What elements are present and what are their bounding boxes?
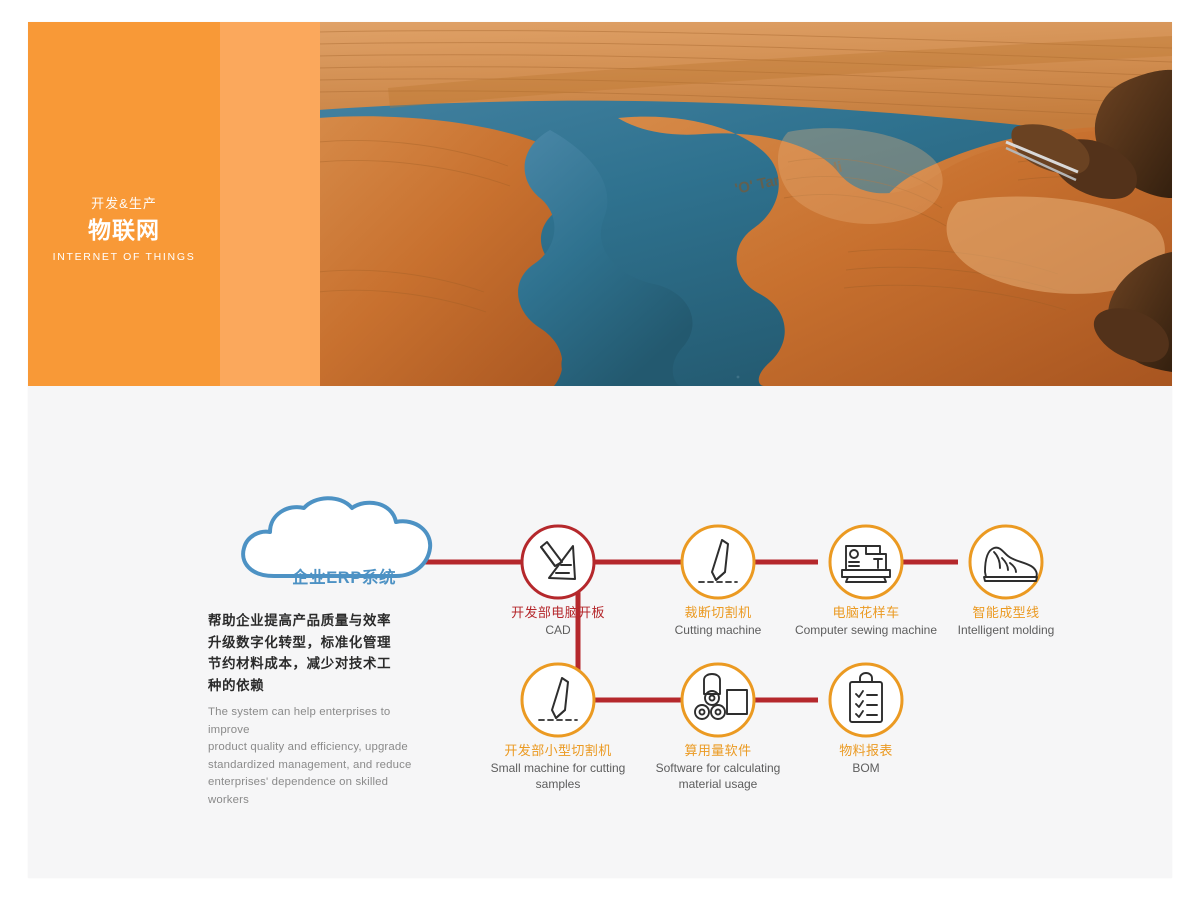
- description-chinese-line: 帮助企业提高产品质量与效率: [208, 610, 426, 632]
- hero-english-title: INTERNET OF THINGS: [28, 248, 220, 266]
- node-label-intelligent-molding-cn: 智能成型线: [926, 604, 1086, 622]
- erp-cloud-label: 企业ERP系统: [292, 564, 396, 588]
- description-chinese-line: 升级数字化转型，标准化管理: [208, 632, 426, 654]
- node-label-material-usage-software-cn: 算用量软件: [638, 742, 798, 760]
- node-label-bom-report-cn: 物料报表: [786, 742, 946, 760]
- hero-photo: 'O' Tan KI Holdi: [318, 22, 1172, 386]
- hero-accent-strip: [220, 22, 320, 386]
- description-english-line: The system can help enterprises to impro…: [208, 704, 426, 739]
- node-label-small-cutting-machine-en: Small machine for cutting samples: [478, 761, 638, 792]
- node-label-material-usage-software-en: Software for calculating material usage: [638, 761, 798, 792]
- hero-banner: 'O' Tan KI Holdi: [28, 22, 1172, 386]
- content-card: 'O' Tan KI Holdi: [28, 22, 1172, 878]
- description-chinese-line: 种的依赖: [208, 675, 426, 697]
- process-diagram: 企业ERP系统 帮助企业提高产品质量与效率 升级数字化转型，标准化管理 节约材料…: [28, 386, 1172, 878]
- node-label-cutting-machine: 裁断切割机 Cutting machine: [638, 604, 798, 639]
- description-chinese: 帮助企业提高产品质量与效率 升级数字化转型，标准化管理 节约材料成本，减少对技术…: [208, 610, 426, 696]
- node-label-bom-report: 物料报表 BOM: [786, 742, 946, 777]
- node-label-small-cutting-machine-cn: 开发部小型切割机: [478, 742, 638, 760]
- description-chinese-line: 节约材料成本，减少对技术工: [208, 653, 426, 675]
- node-label-material-usage-software: 算用量软件 Software for calculating material …: [638, 742, 798, 792]
- node-label-cutting-machine-en: Cutting machine: [638, 623, 798, 639]
- node-label-small-cutting-machine: 开发部小型切割机 Small machine for cutting sampl…: [478, 742, 638, 792]
- node-label-computer-sewing-machine-en: Computer sewing machine: [786, 623, 946, 639]
- node-label-cad-cn: 开发部电脑开板: [478, 604, 638, 622]
- node-circle-material-usage-software: [682, 664, 754, 736]
- description-block: 帮助企业提高产品质量与效率 升级数字化转型，标准化管理 节约材料成本，减少对技术…: [208, 610, 426, 809]
- node-label-intelligent-molding: 智能成型线 Intelligent molding: [926, 604, 1086, 639]
- node-circle-small-cutting-machine: [522, 664, 594, 736]
- description-english-line: product quality and efficiency, upgrade: [208, 739, 426, 757]
- page-root: 'O' Tan KI Holdi: [0, 0, 1200, 900]
- node-circle-cad: [522, 526, 594, 598]
- node-circle-bom-report: [830, 664, 902, 736]
- node-label-intelligent-molding-en: Intelligent molding: [926, 623, 1086, 639]
- description-english: The system can help enterprises to impro…: [208, 704, 426, 809]
- hero-title: 物联网: [28, 215, 220, 245]
- leather-cutting-photo: 'O' Tan KI Holdi: [318, 22, 1172, 386]
- node-label-computer-sewing-machine: 电脑花样车 Computer sewing machine: [786, 604, 946, 639]
- description-english-line: enterprises' dependence on skilled worke…: [208, 774, 426, 809]
- node-circle-cutting-machine: [682, 526, 754, 598]
- node-label-computer-sewing-machine-cn: 电脑花样车: [786, 604, 946, 622]
- node-label-cad-en: CAD: [478, 623, 638, 639]
- node-circle-computer-sewing-machine: [830, 526, 902, 598]
- node-label-bom-report-en: BOM: [786, 761, 946, 777]
- hero-subtitle: 开发&生产: [28, 194, 220, 214]
- node-label-cutting-machine-cn: 裁断切割机: [638, 604, 798, 622]
- description-english-line: standardized management, and reduce: [208, 757, 426, 775]
- node-circle-intelligent-molding: [970, 526, 1042, 598]
- hero-text-group: 开发&生产 物联网 INTERNET OF THINGS: [28, 194, 220, 266]
- node-label-cad: 开发部电脑开板 CAD: [478, 604, 638, 639]
